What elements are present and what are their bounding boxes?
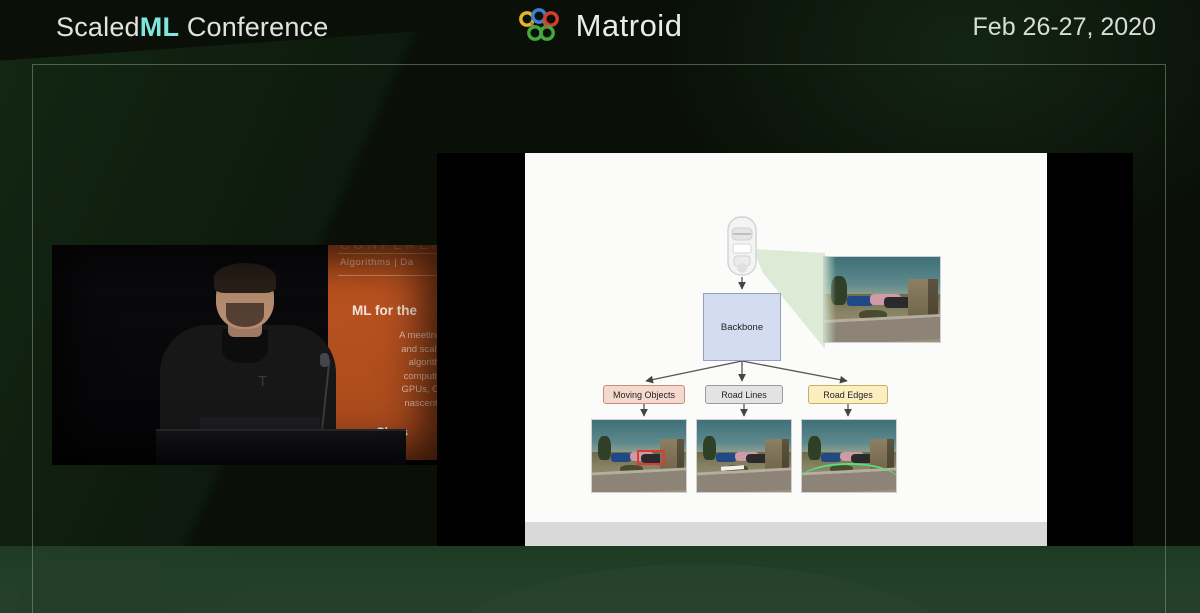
band-arc-shape	[420, 564, 980, 613]
matroid-wordmark: Matroid	[576, 8, 683, 44]
thumb-car-blue	[716, 453, 737, 462]
node-road-edges[interactable]: Road Edges	[808, 385, 888, 404]
node-road-lines[interactable]: Road Lines	[705, 385, 783, 404]
speaker-beard	[226, 303, 264, 327]
banner-subtitle: Algorithms | Da	[340, 257, 414, 268]
banner-rule-top	[338, 253, 440, 254]
conference-header: ScaledML Conference Matroid Feb 26-27, 2…	[0, 0, 1200, 56]
banner-body-line: GPUs, CPUs,	[338, 383, 440, 397]
frame-line-right	[1165, 546, 1166, 613]
thumb-tree	[598, 436, 611, 460]
speaker-hair	[214, 263, 276, 293]
conference-date: Feb 26-27, 2020	[973, 13, 1156, 42]
tesla-logo-icon: T	[258, 373, 267, 390]
thumb-edge-highlight	[824, 257, 836, 342]
node-backbone-label: Backbone	[721, 322, 763, 333]
presentation-slide: Backbone Moving Objects Road Lines Road …	[525, 153, 1047, 546]
frame-line-left	[32, 546, 33, 613]
multitask-network-diagram: Backbone Moving Objects Road Lines Road …	[525, 153, 1047, 546]
conference-banner: CONFERENCE Algorithms | Da ML for the A …	[328, 245, 440, 460]
slide-footer-bar	[525, 522, 1047, 546]
thumb-tree	[703, 436, 716, 460]
detection-bounding-box	[637, 450, 665, 464]
banner-conference-text: CONFERENCE	[340, 245, 440, 252]
banner-body-line: A meeting of le	[338, 329, 440, 343]
banner-body-line: and scaling m	[338, 343, 440, 357]
banner-rule-bottom	[338, 275, 440, 276]
banner-body-line: nascent of A	[338, 397, 440, 411]
node-road-edges-label: Road Edges	[823, 390, 873, 400]
thumb-road	[591, 471, 687, 493]
thumb-car-blue	[611, 453, 632, 462]
microphone-icon	[320, 353, 329, 367]
thumb-tree	[808, 436, 821, 460]
thumb-car-blue	[821, 453, 842, 462]
output-thumbnail-road-edges	[801, 419, 897, 493]
thumb-car-blue	[847, 296, 873, 306]
bottom-green-band	[0, 546, 1200, 613]
speaker-presentation-video[interactable]: CONFERENCE Algorithms | Da ML for the A …	[52, 245, 440, 465]
camera-frame-thumbnail	[823, 256, 941, 343]
slide-video-container[interactable]: Backbone Moving Objects Road Lines Road …	[437, 153, 1133, 546]
node-moving-objects[interactable]: Moving Objects	[603, 385, 685, 404]
matroid-logo-icon	[518, 8, 564, 44]
banner-body-line: algorithms	[338, 356, 440, 370]
output-thumbnail-moving-objects	[591, 419, 687, 493]
banner-headline: ML for the	[352, 303, 417, 318]
node-moving-objects-label: Moving Objects	[613, 390, 675, 400]
banner-body: A meeting of le and scaling m algorithms…	[338, 329, 440, 410]
node-road-lines-label: Road Lines	[721, 390, 767, 400]
thumb-road	[696, 471, 792, 493]
podium	[156, 429, 406, 465]
band-streak-shape	[1, 546, 460, 613]
node-backbone[interactable]: Backbone	[703, 293, 781, 361]
output-thumbnail-road-lines	[696, 419, 792, 493]
banner-body-line: computing pl	[338, 370, 440, 384]
